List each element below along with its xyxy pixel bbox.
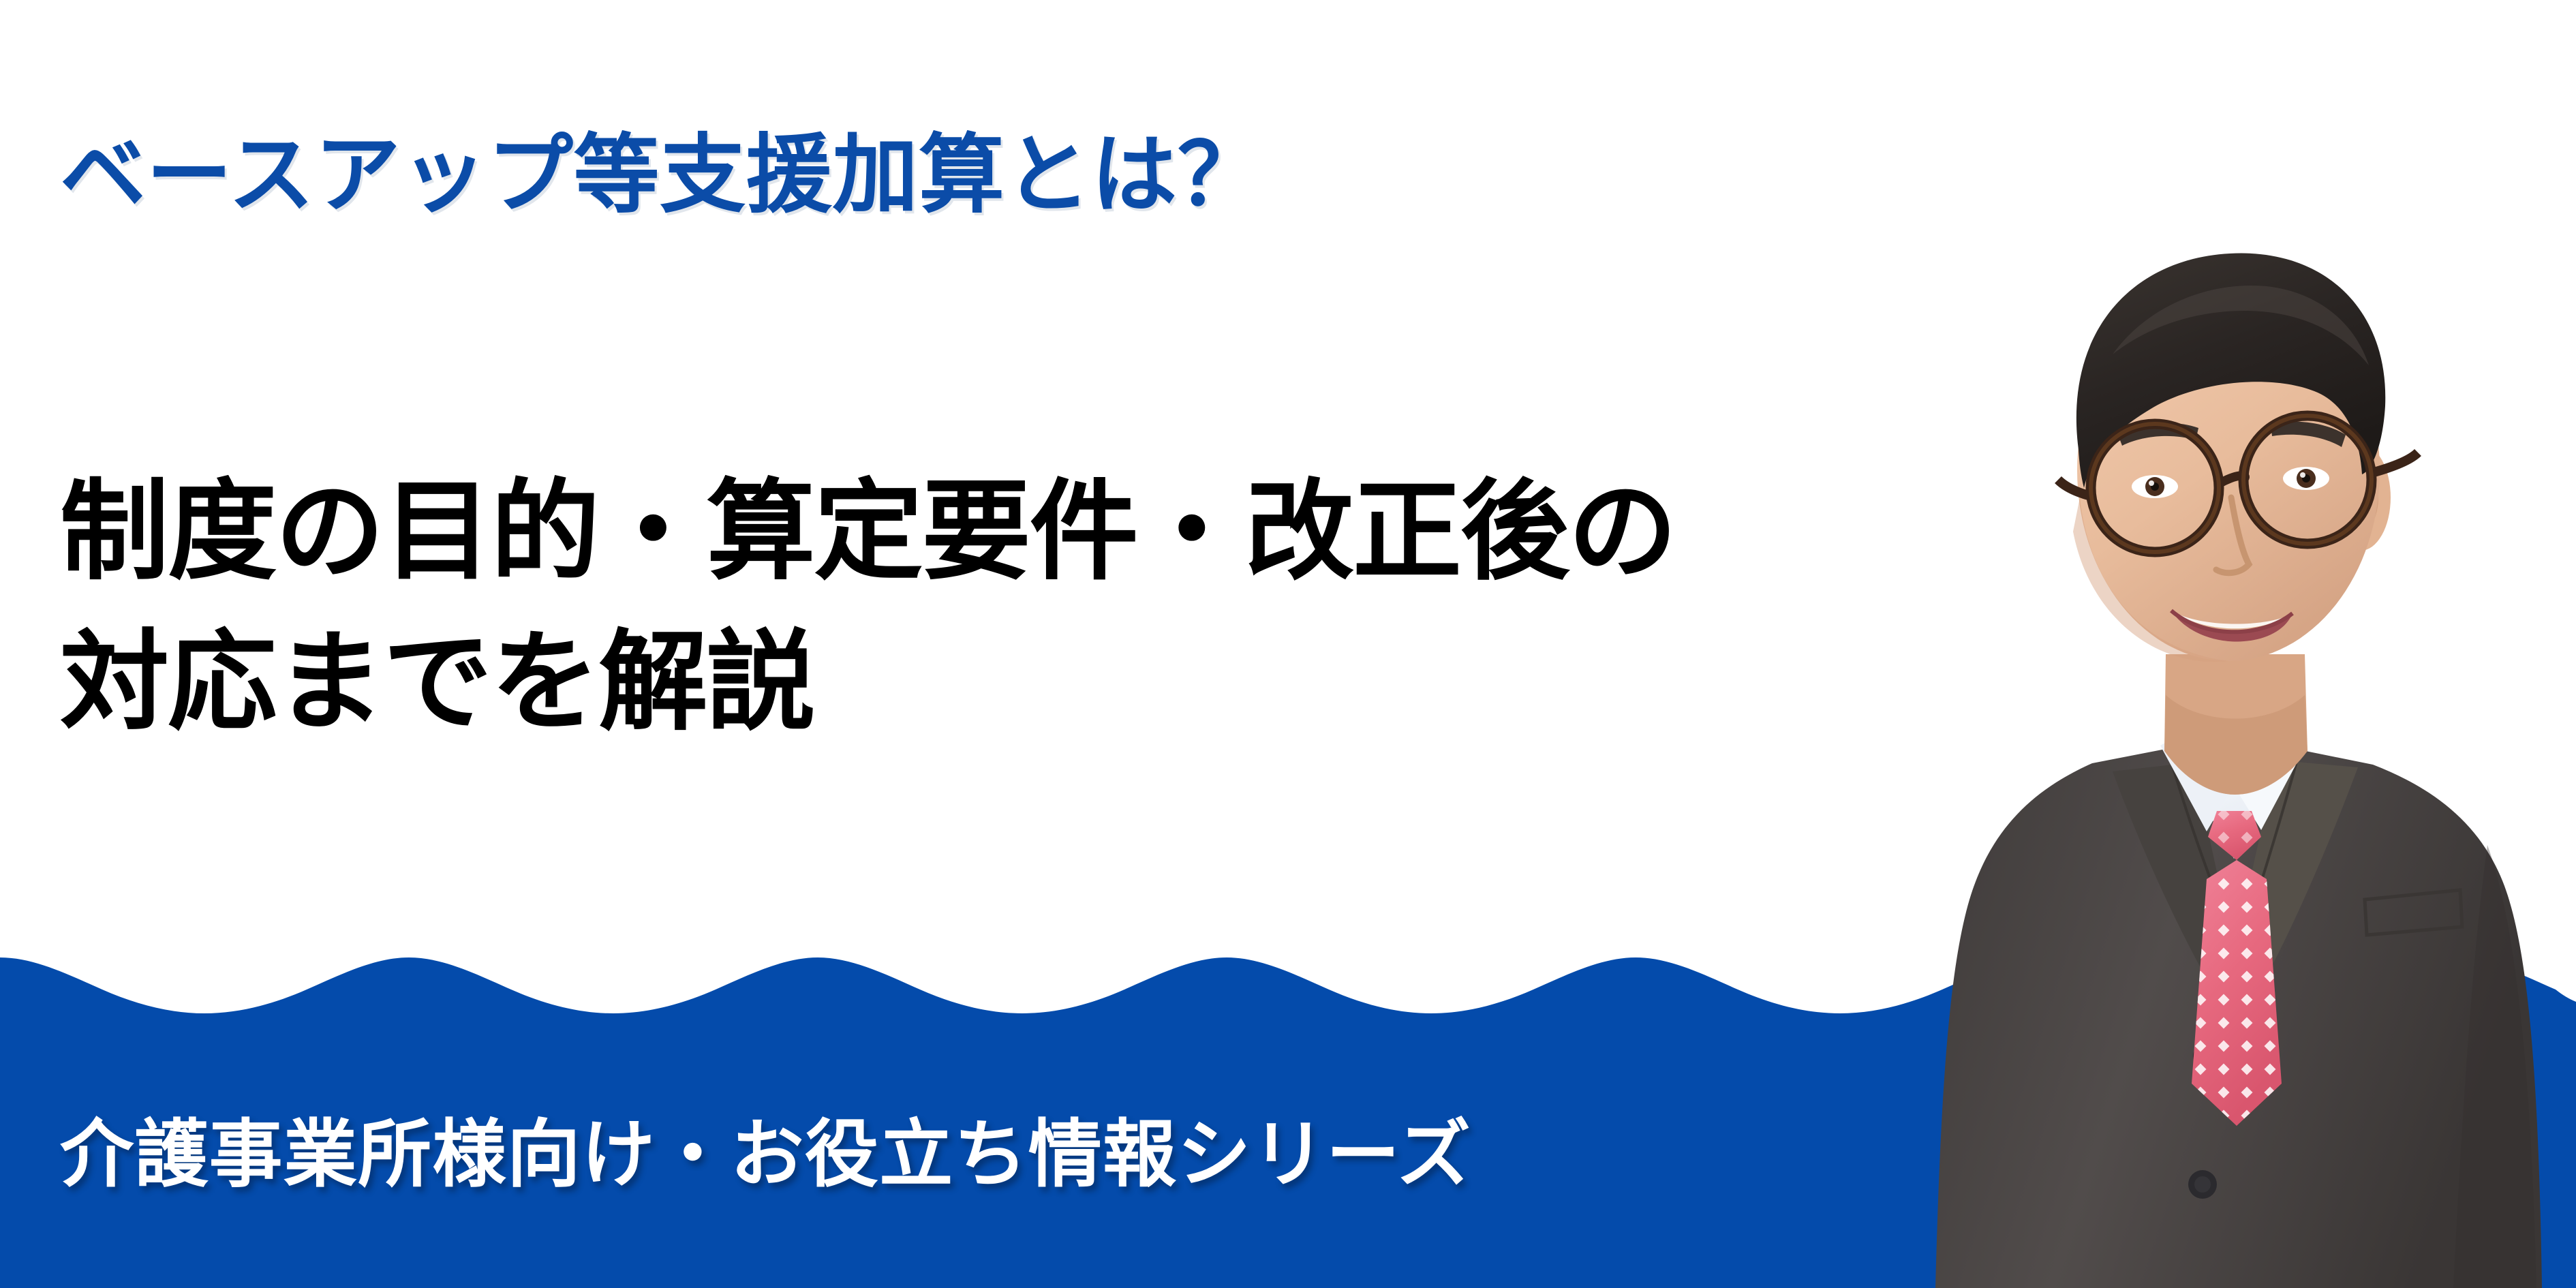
eyeglasses [2058,416,2418,552]
banner-root: ベースアップ等支援加算とは？ 制度の目的・算定要件・改正後の 対応までを解説 介… [0,0,2576,1288]
headline-line-1: 制度の目的・算定要件・改正後の [60,457,1934,607]
text-content: ベースアップ等支援加算とは？ 制度の目的・算定要件・改正後の 対応までを解説 [60,0,1900,913]
page-title: 制度の目的・算定要件・改正後の 対応までを解説 [60,457,1934,758]
hair [2076,254,2385,488]
eyebrow-right [2271,422,2346,447]
neck [2164,654,2307,795]
eyebrow-left [2118,423,2198,446]
eyes [2132,467,2329,498]
face [2077,279,2380,661]
eyebrow-title: ベースアップ等支援加算とは？ [60,127,1264,223]
mouth [2171,611,2293,642]
series-label: 介護事業所様向け・お役立ち情報シリーズ [60,1111,1471,1197]
ear-right [2331,444,2391,551]
nose [2216,497,2249,573]
headline-line-2: 対応までを解説 [60,607,1934,758]
dress-shirt [2160,729,2307,859]
